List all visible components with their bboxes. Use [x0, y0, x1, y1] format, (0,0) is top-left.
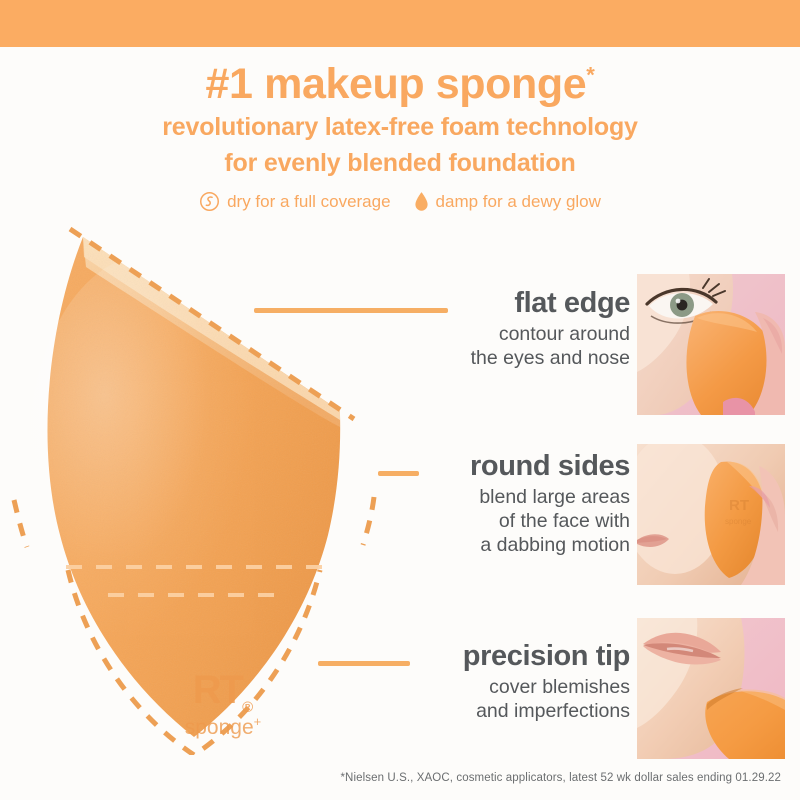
photo-eye-with-sponge: [637, 274, 785, 415]
usage-mode-dry: dry for a full coverage: [199, 191, 390, 212]
subheadline-line-1: revolutionary latex-free foam technology: [0, 113, 800, 143]
infographic-page: #1 makeup sponge* revolutionary latex-fr…: [0, 0, 800, 800]
feature-precision-tip-description: cover blemishes and imperfections: [395, 676, 630, 724]
headline-text: #1 makeup sponge: [206, 60, 587, 108]
feature-precision-tip-desc-line-1: cover blemishes: [489, 676, 630, 698]
svg-text:sponge: sponge: [725, 517, 752, 526]
feature-flat-edge-desc-line-2: the eyes and nose: [471, 347, 630, 369]
feature-round-sides-desc-line-1: blend large areas: [479, 486, 630, 508]
feature-flat-edge-desc-line-1: contour around: [499, 323, 630, 345]
page-title: #1 makeup sponge*: [206, 47, 595, 107]
svg-text:RT: RT: [729, 497, 749, 514]
sponge-icon: [199, 191, 220, 212]
usage-modes: dry for a full coverage damp for a dewy …: [0, 191, 800, 212]
feature-round-sides-title: round sides: [400, 451, 630, 481]
feature-round-sides-description: blend large areas of the face with a dab…: [400, 486, 630, 557]
feature-round-sides: round sides blend large areas of the fac…: [400, 451, 630, 558]
headline-row: #1 makeup sponge*: [0, 47, 800, 107]
feature-precision-tip-title: precision tip: [395, 641, 630, 671]
feature-precision-tip: precision tip cover blemishes and imperf…: [395, 641, 630, 724]
headline-asterisk: *: [586, 63, 594, 88]
usage-mode-damp-label: damp for a dewy glow: [436, 193, 601, 210]
usage-mode-damp: damp for a dewy glow: [414, 191, 601, 212]
feature-precision-tip-desc-line-2: and imperfections: [476, 700, 630, 722]
feature-flat-edge-description: contour around the eyes and nose: [400, 323, 630, 371]
water-drop-icon: [414, 191, 429, 212]
sponge-body: [8, 215, 408, 755]
footnote-source: *Nielsen U.S., XAOC, cosmetic applicator…: [340, 772, 781, 784]
top-brand-bar: [0, 0, 800, 47]
photo-cheek-with-sponge: RT sponge: [637, 444, 785, 585]
feature-round-sides-desc-line-2: of the face with: [499, 510, 630, 532]
feature-flat-edge-title: flat edge: [400, 288, 630, 318]
feature-flat-edge: flat edge contour around the eyes and no…: [400, 288, 630, 371]
sponge-illustration: RT® sponge+: [8, 215, 408, 755]
header-block: #1 makeup sponge* revolutionary latex-fr…: [0, 47, 800, 212]
photo-chin-with-sponge: [637, 618, 785, 759]
usage-mode-dry-label: dry for a full coverage: [227, 193, 390, 210]
subheadline-line-2: for evenly blended foundation: [0, 149, 800, 179]
feature-round-sides-desc-line-3: a dabbing motion: [480, 534, 630, 556]
